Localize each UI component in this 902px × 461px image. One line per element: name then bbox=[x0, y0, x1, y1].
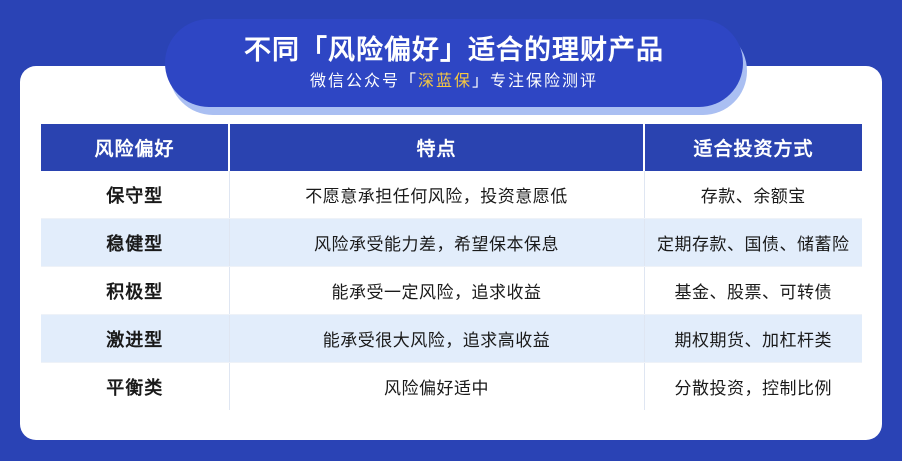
table-body: 保守型 不愿意承担任何风险，投资意愿低 存款、余额宝 稳健型 风险承受能力差，希… bbox=[41, 171, 862, 410]
cell-characteristics: 能承受一定风险，追求收益 bbox=[229, 267, 644, 315]
subtitle-suffix: 」专注保险测评 bbox=[472, 73, 598, 90]
page-title: 不同「风险偏好」适合的理财产品 bbox=[244, 36, 664, 66]
table-row: 积极型 能承受一定风险，追求收益 基金、股票、可转债 bbox=[41, 267, 862, 315]
content-card: shenlanbao.com 专业 | 诚信 专注 风险偏好 特点 适合投资方式 bbox=[20, 66, 882, 440]
infographic-root: shenlanbao.com 专业 | 诚信 专注 风险偏好 特点 适合投资方式 bbox=[0, 0, 902, 461]
cell-risk-type: 稳健型 bbox=[41, 219, 229, 267]
cell-risk-type: 积极型 bbox=[41, 267, 229, 315]
table-row: 激进型 能承受很大风险，追求高收益 期权期货、加杠杆类 bbox=[41, 315, 862, 363]
table-row: 保守型 不愿意承担任何风险，投资意愿低 存款、余额宝 bbox=[41, 171, 862, 219]
cell-investment-method: 期权期货、加杠杆类 bbox=[644, 315, 862, 363]
column-header-investment-method: 适合投资方式 bbox=[644, 124, 862, 171]
page-subtitle: 微信公众号「深蓝保」专注保险测评 bbox=[310, 73, 598, 91]
cell-investment-method: 存款、余额宝 bbox=[644, 171, 862, 219]
cell-risk-type: 平衡类 bbox=[41, 363, 229, 411]
risk-preference-table-wrap: 风险偏好 特点 适合投资方式 保守型 不愿意承担任何风险，投资意愿低 存款、余额… bbox=[41, 124, 862, 410]
cell-investment-method: 分散投资，控制比例 bbox=[644, 363, 862, 411]
cell-risk-type: 激进型 bbox=[41, 315, 229, 363]
cell-investment-method: 基金、股票、可转债 bbox=[644, 267, 862, 315]
table-row: 平衡类 风险偏好适中 分散投资，控制比例 bbox=[41, 363, 862, 411]
column-header-characteristics: 特点 bbox=[229, 124, 644, 171]
cell-risk-type: 保守型 bbox=[41, 171, 229, 219]
cell-investment-method: 定期存款、国债、储蓄险 bbox=[644, 219, 862, 267]
title-pill: 不同「风险偏好」适合的理财产品 微信公众号「深蓝保」专注保险测评 bbox=[165, 19, 743, 107]
subtitle-brand: 深蓝保 bbox=[418, 73, 472, 90]
subtitle-prefix: 微信公众号「 bbox=[310, 73, 418, 90]
column-header-risk-preference: 风险偏好 bbox=[41, 124, 229, 171]
table-header-row: 风险偏好 特点 适合投资方式 bbox=[41, 124, 862, 171]
risk-preference-table: 风险偏好 特点 适合投资方式 保守型 不愿意承担任何风险，投资意愿低 存款、余额… bbox=[41, 124, 862, 410]
table-header: 风险偏好 特点 适合投资方式 bbox=[41, 124, 862, 171]
cell-characteristics: 不愿意承担任何风险，投资意愿低 bbox=[229, 171, 644, 219]
cell-characteristics: 风险承受能力差，希望保本保息 bbox=[229, 219, 644, 267]
table-row: 稳健型 风险承受能力差，希望保本保息 定期存款、国债、储蓄险 bbox=[41, 219, 862, 267]
cell-characteristics: 风险偏好适中 bbox=[229, 363, 644, 411]
cell-characteristics: 能承受很大风险，追求高收益 bbox=[229, 315, 644, 363]
